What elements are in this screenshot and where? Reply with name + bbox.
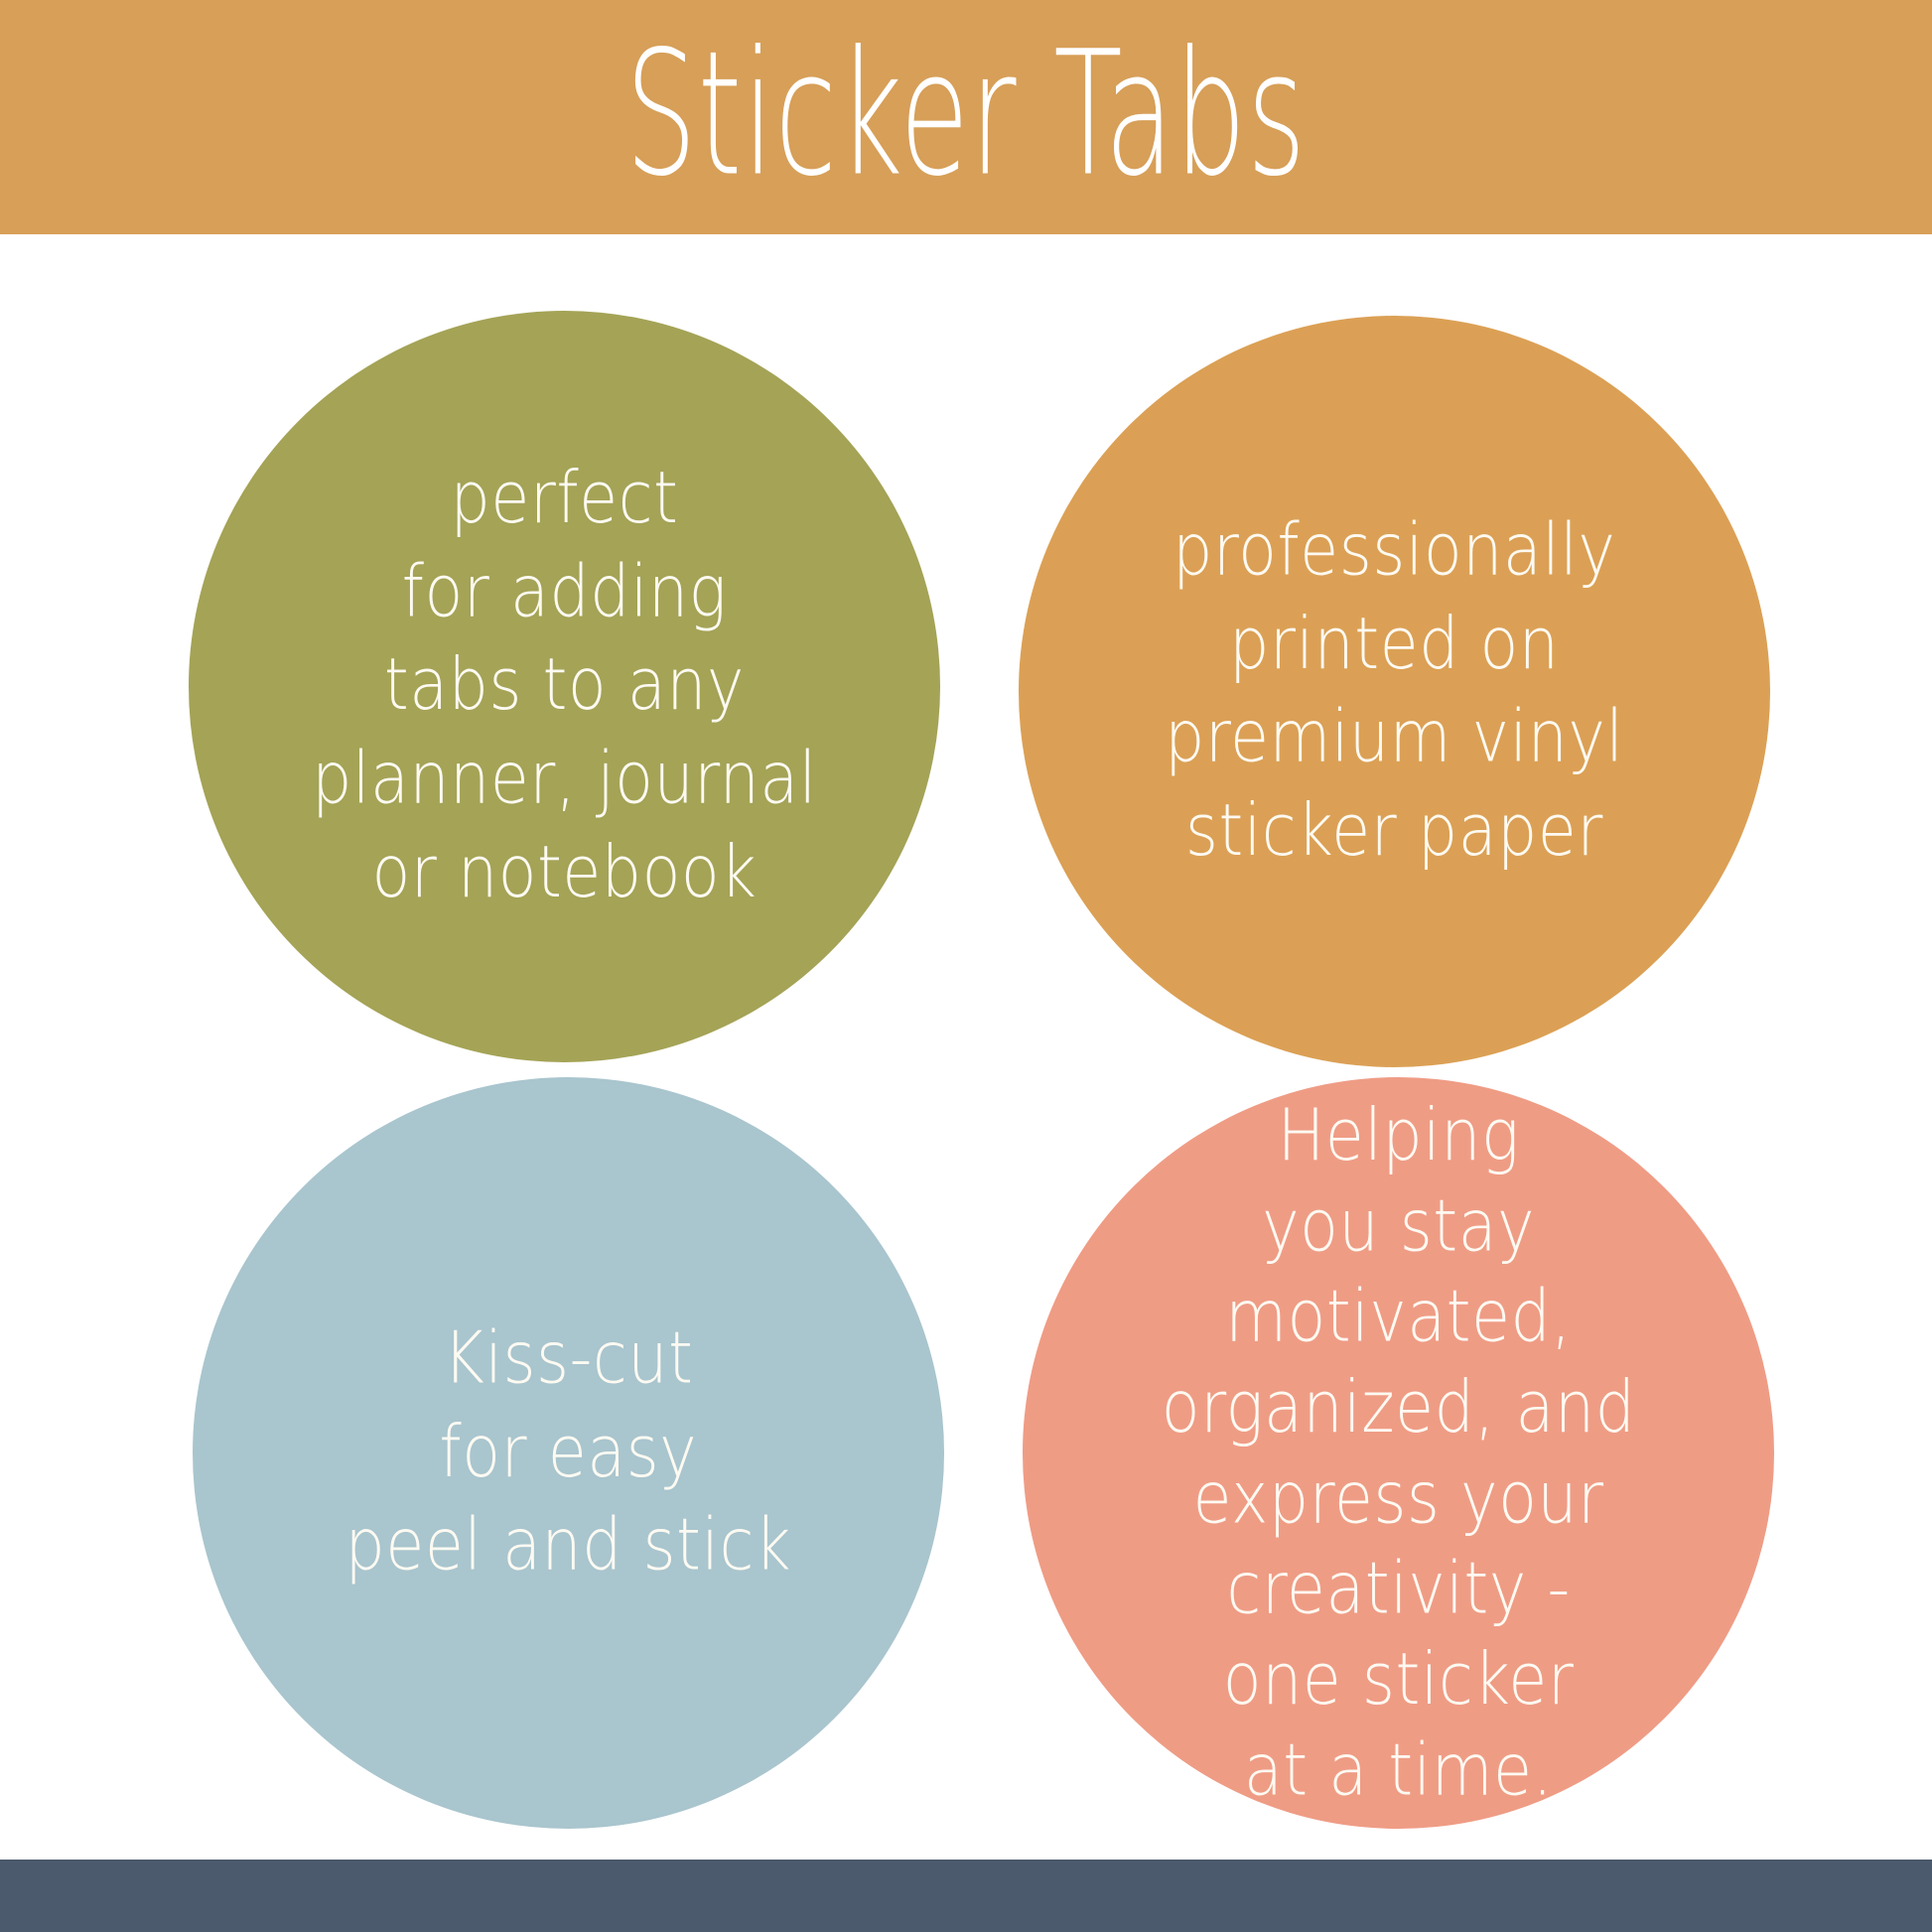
feature-circle-text: perfect for adding tabs to any planner, … <box>312 453 817 920</box>
feature-circle-text: professionally printed on premium vinyl … <box>1165 504 1623 879</box>
feature-circle-perfect-for-adding-tabs[interactable]: perfect for adding tabs to any planner, … <box>189 311 940 1062</box>
feature-circle-text: Kiss-cut for easy peel and stick <box>345 1312 792 1593</box>
footer-banner <box>0 1860 1932 1932</box>
page-title: Sticker Tabs <box>625 29 1307 201</box>
sticker-tabs-infographic: Sticker Tabs perfect for adding tabs to … <box>0 0 1932 1932</box>
feature-circle-professionally-printed[interactable]: professionally printed on premium vinyl … <box>1019 316 1770 1067</box>
feature-circle-grid: perfect for adding tabs to any planner, … <box>0 234 1932 1860</box>
feature-circle-helping-you-stay-motivated[interactable]: Helping you stay motivated, organized, a… <box>1023 1077 1774 1829</box>
header-banner: Sticker Tabs <box>0 0 1932 234</box>
feature-circle-kiss-cut[interactable]: Kiss-cut for easy peel and stick <box>193 1077 944 1829</box>
feature-circle-text: Helping you stay motivated, organized, a… <box>1162 1090 1636 1815</box>
